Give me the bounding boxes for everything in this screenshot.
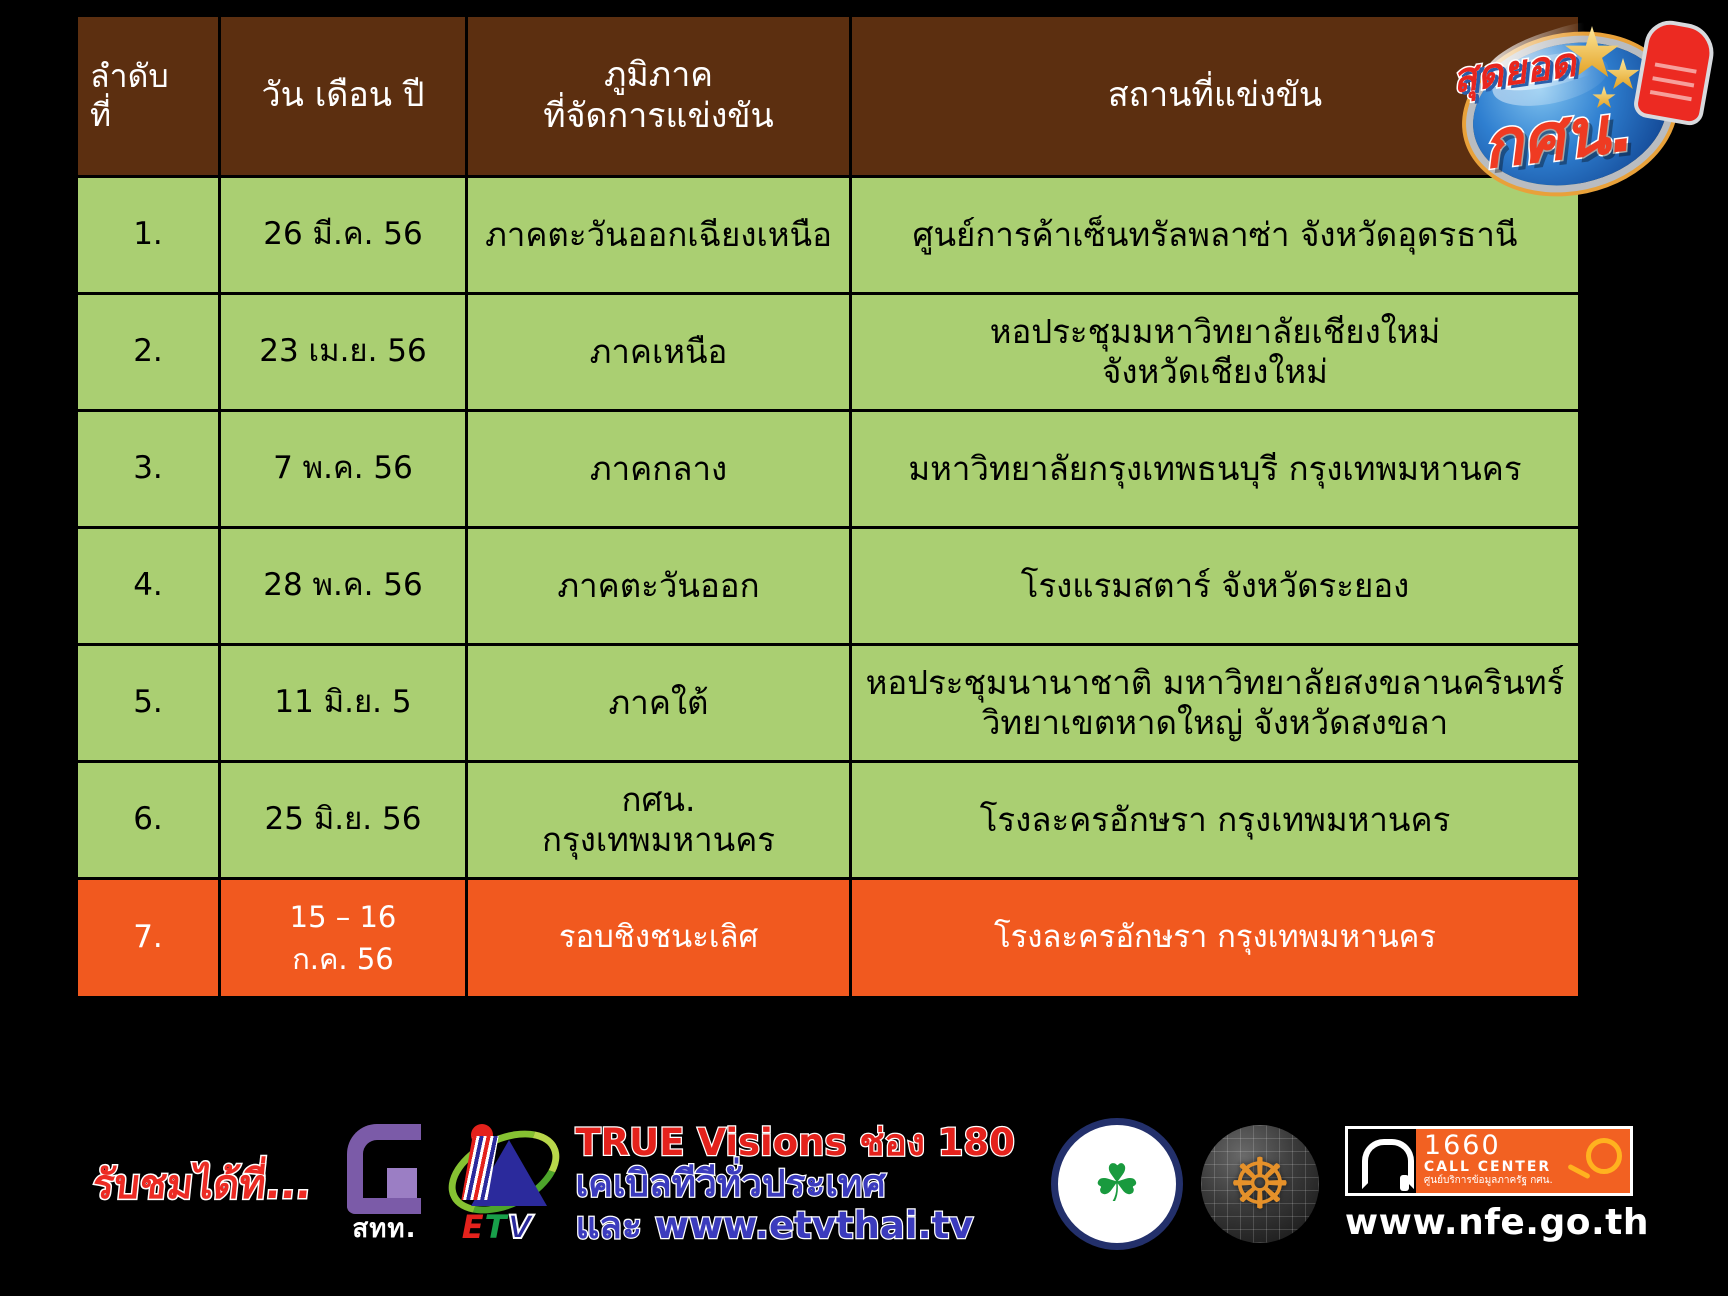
sott-label: สทท.	[341, 1208, 427, 1249]
nfe-website[interactable]: www.nfe.go.th	[1345, 1202, 1649, 1243]
cell-venue: มหาวิทยาลัยกรุงเทพธนบุรี กรุงเทพมหานคร	[851, 411, 1580, 528]
cell-region-line1: ภาคเหนือ	[474, 332, 843, 372]
call-center-badge: 1660 CALL CENTER ศูนย์บริการข้อมูลภาครัฐ…	[1345, 1126, 1633, 1196]
table-row-final: 7. 15 – 16 ก.ค. 56 รอบชิงชนะเลิศ โรงละคร…	[77, 879, 1580, 998]
cell-venue-line1: หอประชุมนานาชาติ มหาวิทยาลัยสงขลานครินทร…	[858, 663, 1572, 703]
footer-bar: รับชมได้ที่... สทท. ETV TRUE Visions ช่อ…	[75, 1100, 1512, 1268]
etv-label: ETV	[445, 1208, 549, 1246]
cell-order-no: 7.	[77, 879, 220, 998]
cell-venue: ศูนย์การค้าเซ็นทรัลพลาซ่า จังหวัดอุดรธาน…	[851, 177, 1580, 294]
cell-date: 26 มี.ค. 56	[220, 177, 467, 294]
cell-date: 23 เม.ย. 56	[220, 294, 467, 411]
cell-venue-line1: มหาวิทยาลัยกรุงเทพธนบุรี กรุงเทพมหานคร	[858, 449, 1572, 489]
cell-order-no: 1.	[77, 177, 220, 294]
cell-region: ภาคตะวันออก	[467, 528, 851, 645]
cell-venue: โรงละครอักษรา กรุงเทพมหานคร	[851, 879, 1580, 998]
sott-logo: สทท.	[341, 1120, 427, 1249]
table-row: 2. 23 เม.ย. 56 ภาคเหนือ หอประชุมมหาวิทยา…	[77, 294, 1580, 411]
etvthai-website[interactable]: และ www.etvthai.tv	[575, 1205, 1014, 1246]
cell-venue-line1: โรงละครอักษรา กรุงเทพมหานคร	[858, 800, 1572, 840]
onie-seal: ☘	[1051, 1118, 1183, 1250]
etv-mark-icon	[445, 1122, 549, 1212]
cell-order-no: 3.	[77, 411, 220, 528]
cell-venue: โรงละครอักษรา กรุงเทพมหานคร	[851, 762, 1580, 879]
cell-region-line1: ภาคกลาง	[474, 449, 843, 489]
column-header-venue: สถานที่แข่งขัน	[851, 16, 1580, 177]
star-icon	[1592, 86, 1616, 110]
cell-venue-line1: โรงละครอักษรา กรุงเทพมหานคร	[858, 919, 1572, 957]
cell-region: ภาคตะวันออกเฉียงเหนือ	[467, 177, 851, 294]
column-header-order-no-line2: ที่	[90, 96, 212, 135]
cell-date: 28 พ.ค. 56	[220, 528, 467, 645]
cell-order-no: 4.	[77, 528, 220, 645]
thumbs-up-icon	[1632, 17, 1718, 128]
call-center-thai-label: ศูนย์บริการข้อมูลภาครัฐ กศน.	[1424, 1175, 1622, 1187]
column-header-region-line2: ที่จัดการแข่งขัน	[474, 96, 843, 137]
table-row: 5. 11 มิ.ย. 5 ภาคใต้ หอประชุมนานาชาติ มห…	[77, 645, 1580, 762]
cell-order-no: 6.	[77, 762, 220, 879]
cell-region-line1: รอบชิงชนะเลิศ	[474, 919, 843, 957]
cell-date-line2: ก.ค. 56	[227, 938, 459, 980]
moe-emblem-icon: ☸	[1229, 1149, 1292, 1219]
cell-venue-line2: จังหวัดเชียงใหม่	[858, 352, 1572, 392]
cell-order-no: 2.	[77, 294, 220, 411]
cell-venue-line2: วิทยาเขตหาดใหญ่ จังหวัดสงขลา	[858, 703, 1572, 743]
cell-venue: หอประชุมนานาชาติ มหาวิทยาลัยสงขลานครินทร…	[851, 645, 1580, 762]
cell-date: 11 มิ.ย. 5	[220, 645, 467, 762]
table-row: 3. 7 พ.ค. 56 ภาคกลาง มหาวิทยาลัยกรุงเทพธ…	[77, 411, 1580, 528]
slide-root: ลำดับ ที่ วัน เดือน ปี ภูมิภาค ที่จัดการ…	[0, 0, 1728, 1296]
cell-region: รอบชิงชนะเลิศ	[467, 879, 851, 998]
cell-region-line1: ภาคตะวันออก	[474, 566, 843, 606]
moe-globe-seal: ☸	[1201, 1125, 1319, 1243]
table-row: 4. 28 พ.ค. 56 ภาคตะวันออก โรงแรมสตาร์ จั…	[77, 528, 1580, 645]
moe-globe-seal-icon: ☸	[1201, 1125, 1319, 1243]
cell-venue: โรงแรมสตาร์ จังหวัดระยอง	[851, 528, 1580, 645]
column-header-venue-line1: สถานที่แข่งขัน	[858, 75, 1572, 116]
column-header-region-line1: ภูมิภาค	[474, 55, 843, 96]
phone-cord-icon	[1586, 1138, 1622, 1174]
column-header-date-line1: วัน เดือน ปี	[227, 75, 459, 116]
table-row: 1. 26 มี.ค. 56 ภาคตะวันออกเฉียงเหนือ ศูน…	[77, 177, 1580, 294]
etv-logo: ETV	[445, 1122, 549, 1246]
call-center-block: 1660 CALL CENTER ศูนย์บริการข้อมูลภาครัฐ…	[1345, 1126, 1649, 1243]
cell-order-no: 5.	[77, 645, 220, 762]
cell-venue-line1: โรงแรมสตาร์ จังหวัดระยอง	[858, 566, 1572, 606]
table-header-row: ลำดับ ที่ วัน เดือน ปี ภูมิภาค ที่จัดการ…	[77, 16, 1580, 177]
cell-region-line1: ภาคใต้	[474, 683, 843, 723]
cell-venue: หอประชุมมหาวิทยาลัยเชียงใหม่ จังหวัดเชีย…	[851, 294, 1580, 411]
headset-icon-wrap	[1348, 1129, 1416, 1193]
table-header: ลำดับ ที่ วัน เดือน ปี ภูมิภาค ที่จัดการ…	[77, 16, 1580, 177]
table-body: 1. 26 มี.ค. 56 ภาคตะวันออกเฉียงเหนือ ศูน…	[77, 177, 1580, 998]
star-icon	[1606, 58, 1640, 92]
true-visions-channel: TRUE Visions ช่อง 180	[575, 1122, 1014, 1163]
column-header-order-no: ลำดับ ที่	[77, 16, 220, 177]
cell-venue-line1: หอประชุมมหาวิทยาลัยเชียงใหม่	[858, 312, 1572, 352]
true-visions-block: TRUE Visions ช่อง 180 เคเบิลทีวีทั่วประเ…	[575, 1122, 1014, 1246]
competition-schedule-table: ลำดับ ที่ วัน เดือน ปี ภูมิภาค ที่จัดการ…	[75, 14, 1581, 999]
column-header-date: วัน เดือน ปี	[220, 16, 467, 177]
etv-letter-v: V	[507, 1208, 533, 1246]
cell-venue-line1: ศูนย์การค้าเซ็นทรัลพลาซ่า จังหวัดอุดรธาน…	[858, 215, 1572, 255]
cell-region: กศน. กรุงเทพมหานคร	[467, 762, 851, 879]
cell-region: ภาคกลาง	[467, 411, 851, 528]
column-header-order-no-line1: ลำดับ	[90, 57, 212, 96]
headset-icon	[1362, 1139, 1414, 1189]
cell-region: ภาคใต้	[467, 645, 851, 762]
column-header-region: ภูมิภาค ที่จัดการแข่งขัน	[467, 16, 851, 177]
etv-letter-t: T	[485, 1208, 508, 1246]
cell-region: ภาคเหนือ	[467, 294, 851, 411]
cell-date: 7 พ.ค. 56	[220, 411, 467, 528]
onie-seal-emblem-icon: ☘	[1094, 1158, 1141, 1210]
cell-date-line1: 15 – 16	[227, 896, 459, 938]
sott-mark-icon	[341, 1120, 427, 1206]
cell-date: 15 – 16 ก.ค. 56	[220, 879, 467, 998]
cell-region-line2: กรุงเทพมหานคร	[474, 820, 843, 860]
cell-region-line1: กศน.	[474, 780, 843, 820]
cell-region-line1: ภาคตะวันออกเฉียงเหนือ	[474, 215, 843, 255]
table-row: 6. 25 มิ.ย. 56 กศน. กรุงเทพมหานคร โรงละค…	[77, 762, 1580, 879]
cell-date: 25 มิ.ย. 56	[220, 762, 467, 879]
call-center-info: 1660 CALL CENTER ศูนย์บริการข้อมูลภาครัฐ…	[1416, 1129, 1630, 1193]
watch-label: รับชมได้ที่...	[90, 1152, 315, 1216]
cable-tv-nationwide: เคเบิลทีวีทั่วประเทศ	[575, 1163, 1014, 1204]
onie-seal-icon: ☘	[1051, 1118, 1183, 1250]
